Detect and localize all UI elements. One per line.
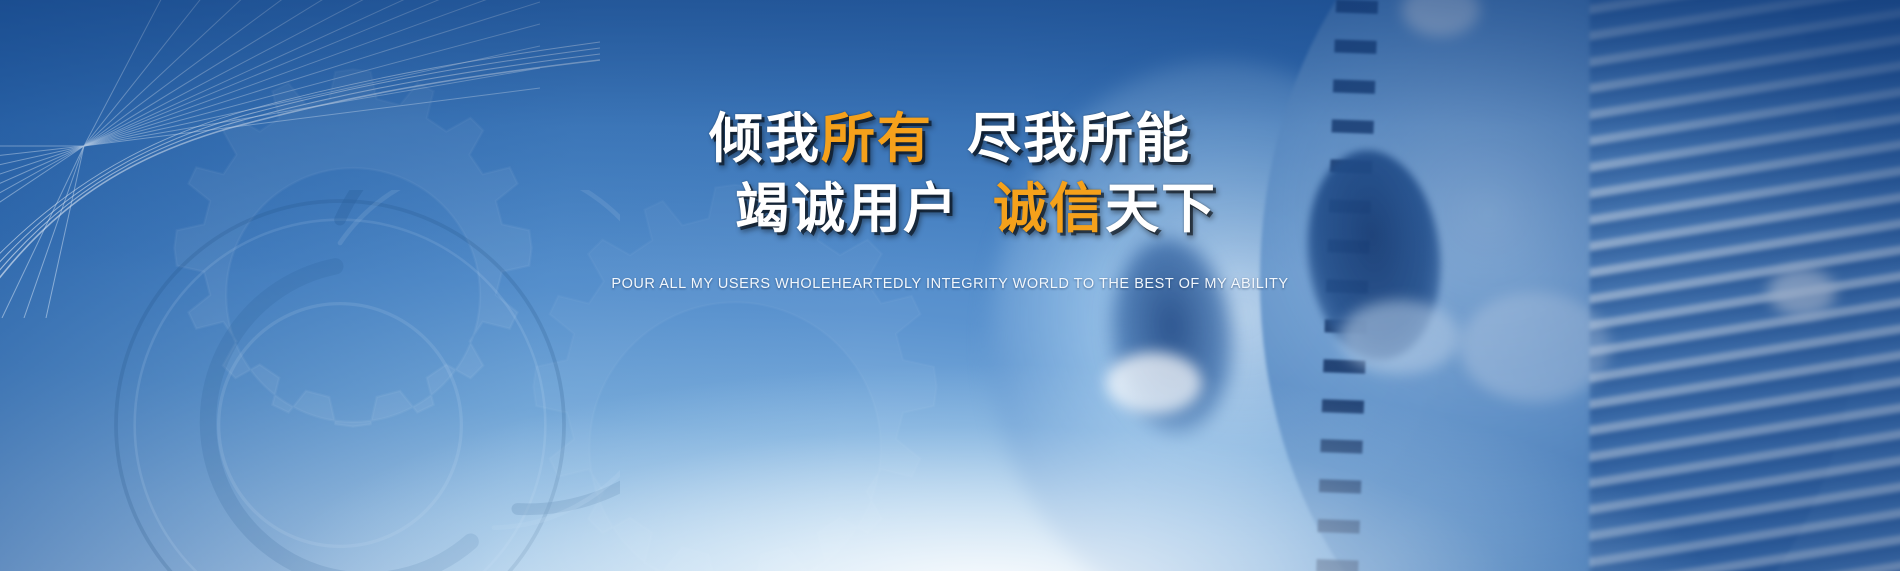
headline-segment: 竭诚用户	[735, 182, 959, 236]
hero-banner: 倾我所有尽我所能 竭诚用户诚信天下 POUR ALL MY USERS WHOL…	[0, 0, 1900, 571]
headline-segment: 倾我	[709, 112, 821, 166]
headline-segment: 尽我所能	[967, 112, 1191, 166]
headline-segment-accent: 诚信	[993, 182, 1105, 236]
banner-subtitle: POUR ALL MY USERS WHOLEHEARTEDLY INTEGRI…	[0, 276, 1900, 292]
headline-line-1: 倾我所有尽我所能	[0, 112, 1900, 166]
banner-copy: 倾我所有尽我所能 竭诚用户诚信天下 POUR ALL MY USERS WHOL…	[0, 112, 1900, 292]
headline-line-2: 竭诚用户诚信天下	[52, 182, 1900, 236]
headline-segment: 天下	[1105, 182, 1217, 236]
headline-segment-accent: 所有	[821, 112, 933, 166]
